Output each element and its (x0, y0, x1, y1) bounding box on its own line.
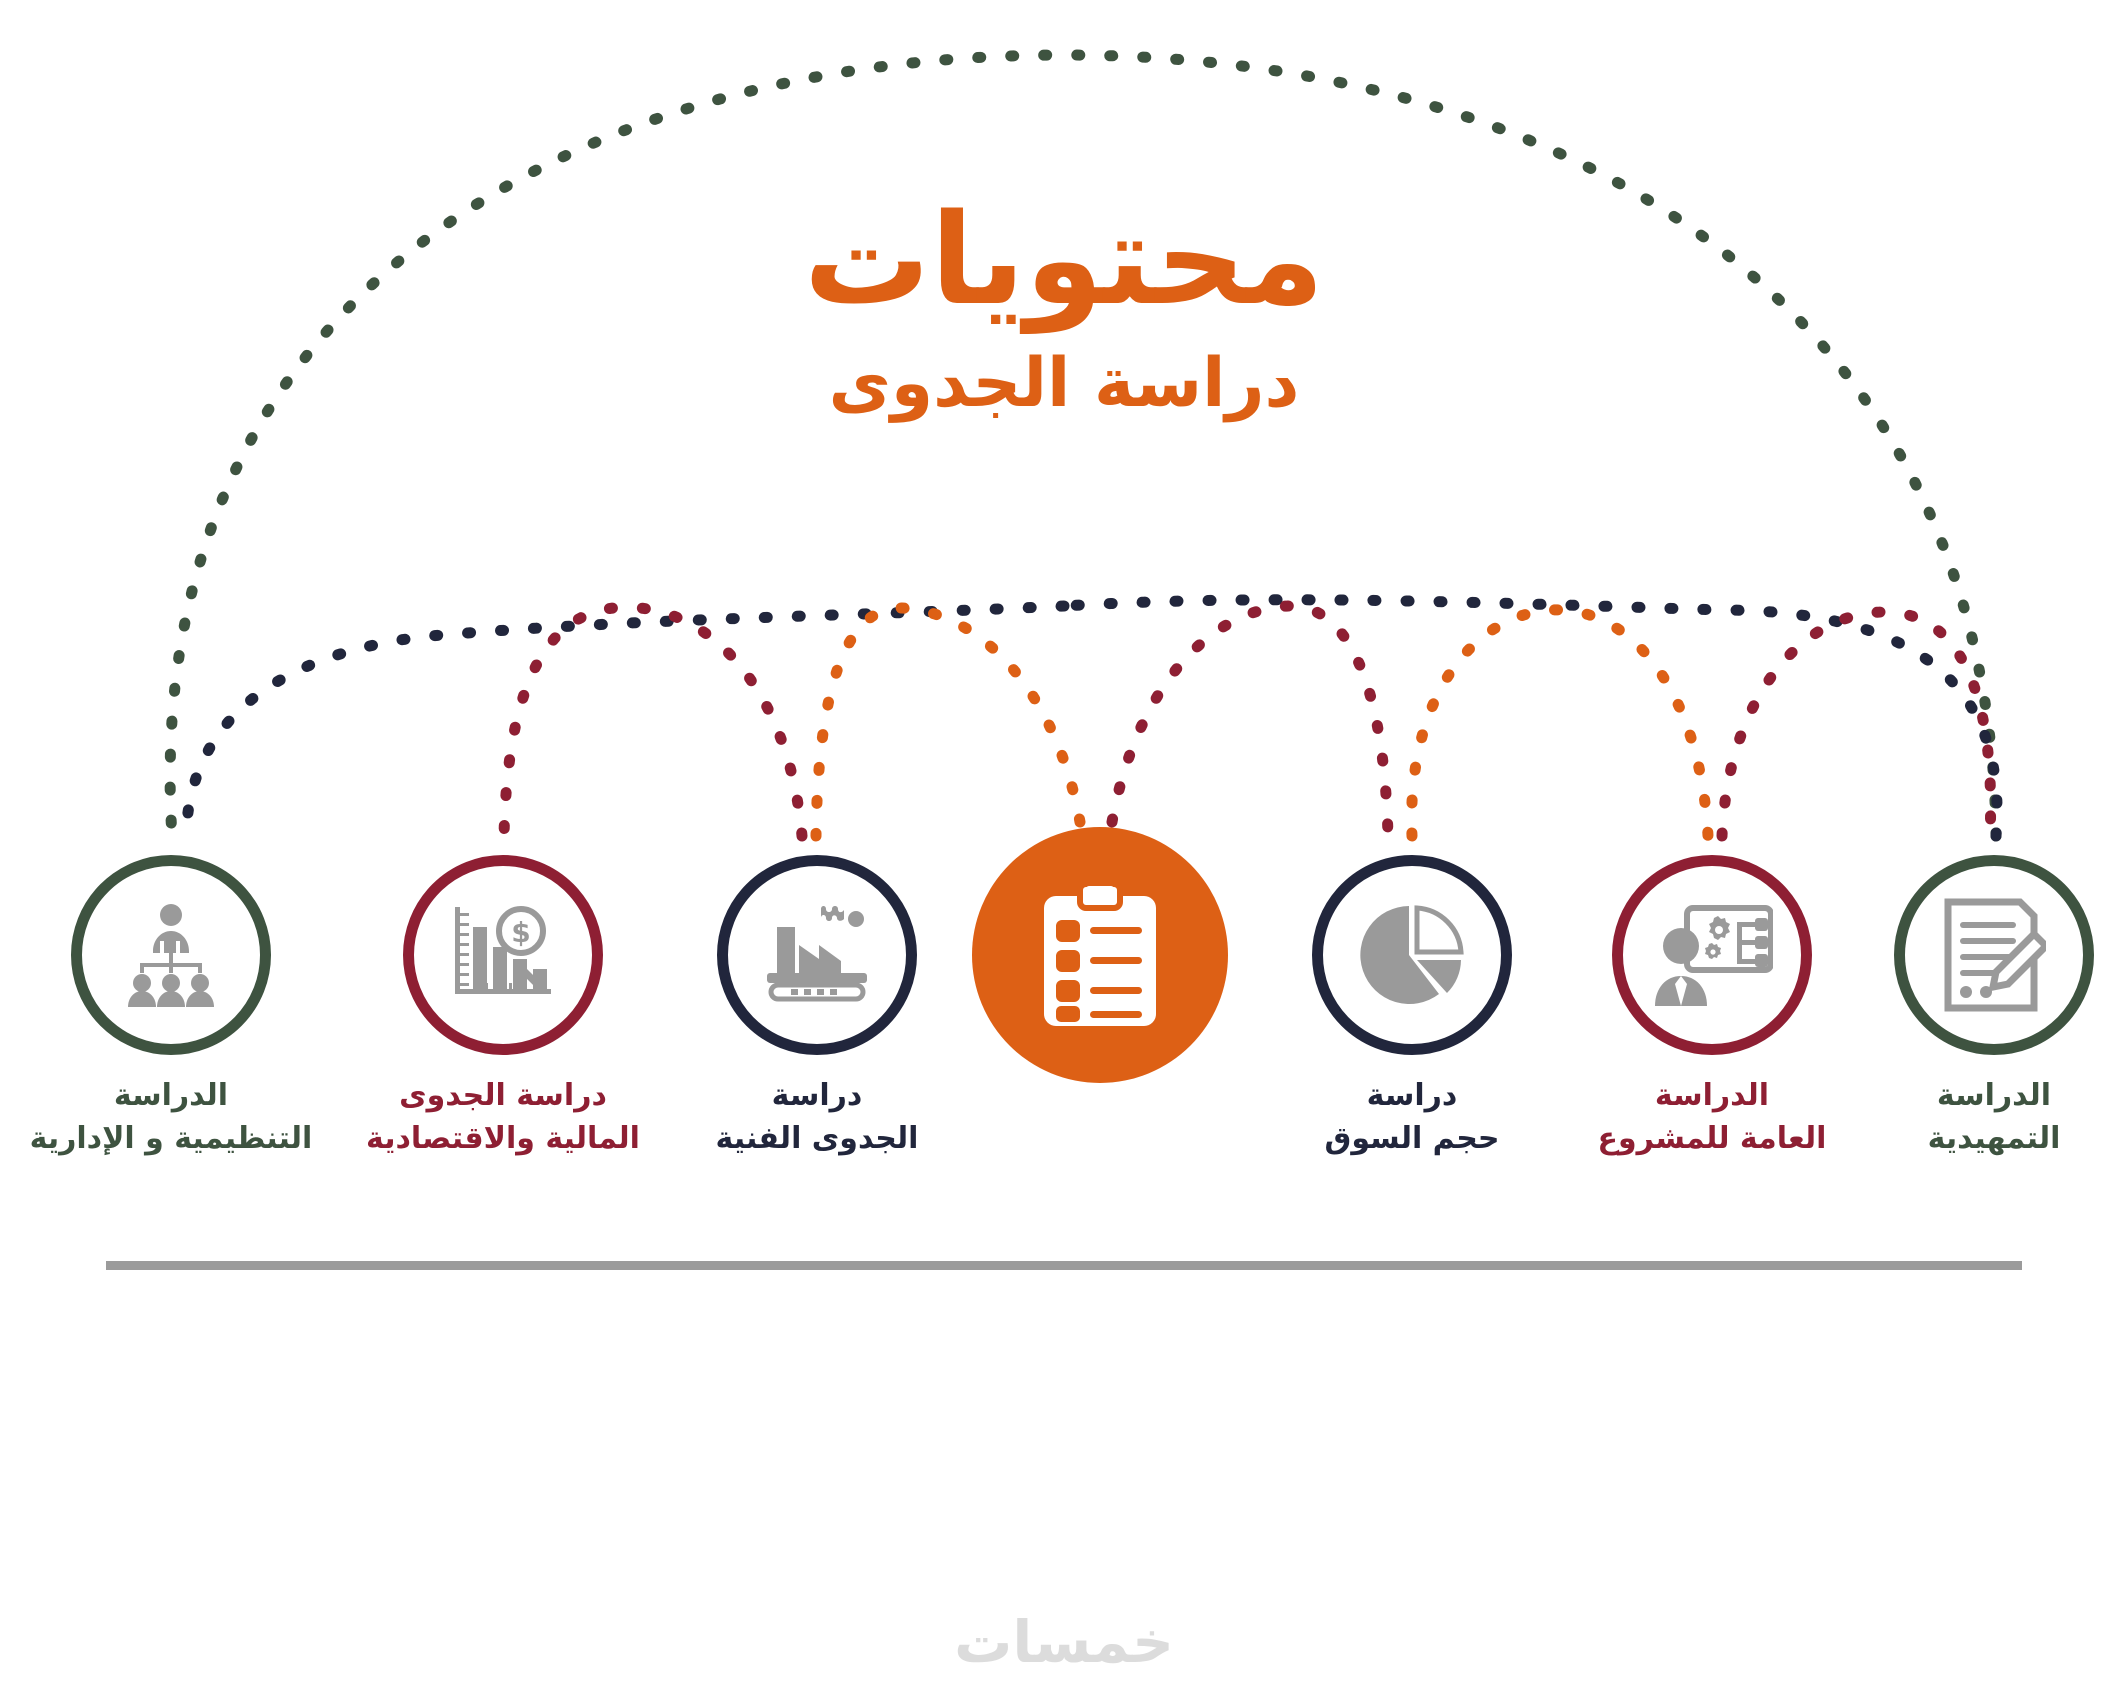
infographic-canvas: محتويات دراسة الجدوى الدراس (0, 0, 2128, 1700)
node-technical-feasibility-study[interactable]: دراسة الجدوى الفنية (667, 855, 967, 1160)
arc-orange-left (816, 608, 1080, 836)
node-ring[interactable]: $ (403, 855, 603, 1055)
page-title: محتويات (0, 196, 2128, 325)
bar-chart-magnifier-dollar-icon: $ (447, 901, 559, 1009)
arc-orange-right (1412, 610, 1708, 836)
baseline-divider (106, 1261, 2022, 1270)
factory-icon (759, 905, 875, 1005)
node-label: دراسة حجم السوق (1262, 1075, 1562, 1160)
arc-navy-long-left (186, 606, 1064, 836)
watermark: خمسات (0, 1608, 2128, 1676)
arc-maroon-left (504, 607, 802, 836)
node-ring[interactable] (1312, 855, 1512, 1055)
node-organizational-administrative-study[interactable]: الدراسة التنظيمية و الإدارية (21, 855, 321, 1160)
node-ring[interactable] (71, 855, 271, 1055)
node-label: الدراسة العامة للمشروع (1562, 1075, 1862, 1160)
node-ring[interactable] (1894, 855, 2094, 1055)
node-market-size-study[interactable]: دراسة حجم السوق (1262, 855, 1562, 1160)
node-label: الدراسة التمهيدية (1844, 1075, 2128, 1160)
title-block: محتويات دراسة الجدوى (0, 196, 2128, 426)
page-subtitle: دراسة الجدوى (0, 341, 2128, 426)
arc-maroon-center (1112, 606, 1388, 836)
node-label: الدراسة التنظيمية و الإدارية (21, 1075, 321, 1160)
arc-navy-outer-right (1064, 600, 1997, 836)
document-pencil-icon (1942, 898, 2046, 1012)
node-financial-economic-feasibility-study[interactable]: $ دراسة الجدوى المالية والاقتصادية (353, 855, 653, 1160)
node-ring[interactable] (717, 855, 917, 1055)
node-row: الدراسة التنظيمية و الإدارية (0, 855, 2128, 1255)
org-chart-icon (115, 903, 227, 1007)
node-label: دراسة الجدوى المالية والاقتصادية (353, 1075, 653, 1160)
presentation-person-gears-icon (1651, 904, 1773, 1006)
node-label: دراسة الجدوى الفنية (667, 1075, 967, 1160)
svg-text:$: $ (511, 916, 530, 949)
pie-chart-icon (1357, 900, 1467, 1010)
node-general-project-study[interactable]: الدراسة العامة للمشروع (1562, 855, 1862, 1160)
node-preliminary-study[interactable]: الدراسة التمهيدية (1844, 855, 2128, 1160)
node-ring[interactable] (1612, 855, 1812, 1055)
node-ring-center[interactable] (972, 827, 1228, 1083)
arc-maroon-right (1722, 612, 1991, 836)
outer-left-arc (170, 55, 1996, 836)
node-feasibility-study-center[interactable] (950, 855, 1250, 1103)
clipboard-checklist-icon (1040, 884, 1160, 1026)
